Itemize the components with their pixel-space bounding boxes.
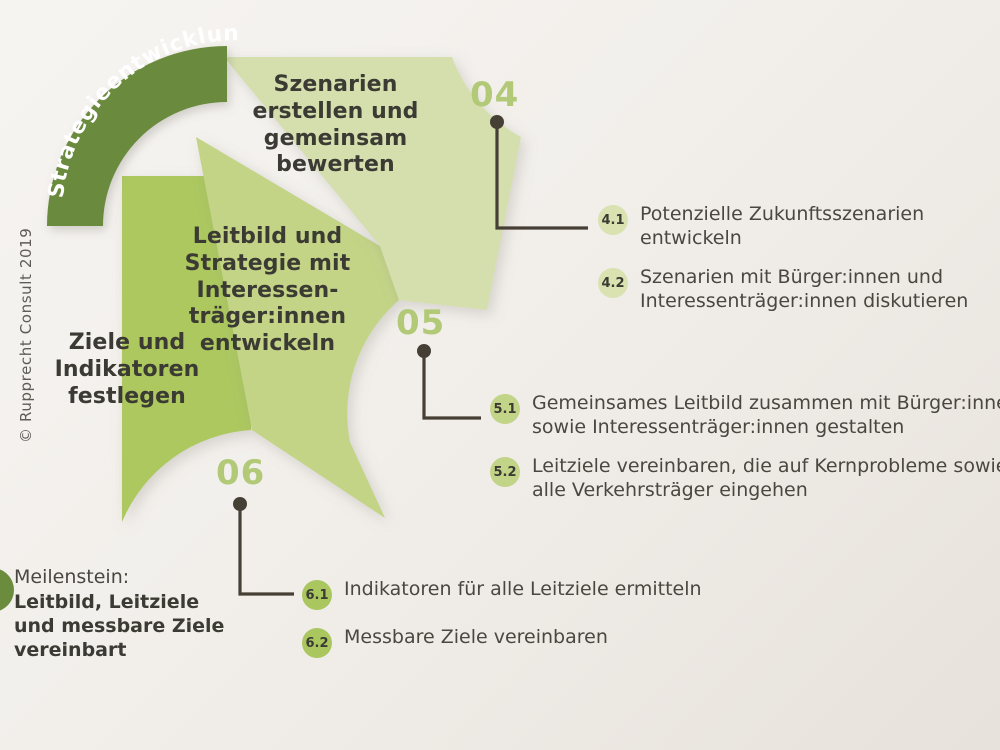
sub-item[interactable]: 4.2 Szenarien mit Bürger:innen und Inter…	[598, 266, 1000, 313]
milestone-callout: Meilenstein: Leitbild, Leitziele und mes…	[14, 566, 254, 663]
sub-item-badge: 4.2	[598, 268, 628, 298]
sub-item[interactable]: 6.1 Indikatoren für alle Leitziele ermit…	[302, 578, 742, 610]
sub-item[interactable]: 4.1 Potenzielle Zukunftsszenarien entwic…	[598, 203, 1000, 250]
sub-item-text: Gemeinsames Leitbild zusammen mit Bürger…	[532, 392, 1000, 439]
sub-item-list-05: 5.1 Gemeinsames Leitbild zusammen mit Bü…	[490, 392, 1000, 518]
copyright-notice: © Rupprecht Consult 2019	[17, 243, 35, 443]
infographic-canvas: Strategieentwicklung © Rupprecht Consult…	[0, 0, 1000, 750]
sub-item-badge: 4.1	[598, 205, 628, 235]
sub-item[interactable]: 5.2 Leitziele vereinbaren, die auf Kernp…	[490, 455, 1000, 502]
sub-item-text: Leitziele vereinbaren, die auf Kernprobl…	[532, 455, 1000, 502]
sub-item-badge: 6.2	[302, 628, 332, 658]
sub-item-badge: 5.1	[490, 394, 520, 424]
sub-item-text: Indikatoren für alle Leitziele ermitteln	[344, 578, 702, 602]
leader-line-05	[417, 344, 481, 418]
milestone-text: Leitbild, Leitziele und messbare Ziele v…	[14, 590, 254, 663]
sub-item[interactable]: 6.2 Messbare Ziele vereinbaren	[302, 626, 742, 658]
sub-item-text: Messbare Ziele vereinbaren	[344, 626, 608, 650]
step-number-06: 06	[216, 453, 265, 493]
sub-item-badge: 6.1	[302, 580, 332, 610]
sub-item-text: Szenarien mit Bürger:innen und Interesse…	[640, 266, 968, 313]
step-number-04: 04	[470, 75, 519, 115]
step-number-05: 05	[396, 303, 445, 343]
wedge-label-04: Szenarien erstellen und gemeinsam bewert…	[228, 72, 443, 179]
milestone-label: Meilenstein:	[14, 566, 254, 590]
sub-item-list-04: 4.1 Potenzielle Zukunftsszenarien entwic…	[598, 203, 1000, 329]
sub-item[interactable]: 5.1 Gemeinsames Leitbild zusammen mit Bü…	[490, 392, 1000, 439]
sub-item-badge: 5.2	[490, 457, 520, 487]
milestone-marker	[0, 568, 14, 612]
sub-item-text: Potenzielle Zukunftsszenarien entwickeln	[640, 203, 924, 250]
sub-item-list-06: 6.1 Indikatoren für alle Leitziele ermit…	[302, 578, 742, 674]
wedge-label-06: Ziele und Indikatoren festlegen	[42, 330, 212, 410]
